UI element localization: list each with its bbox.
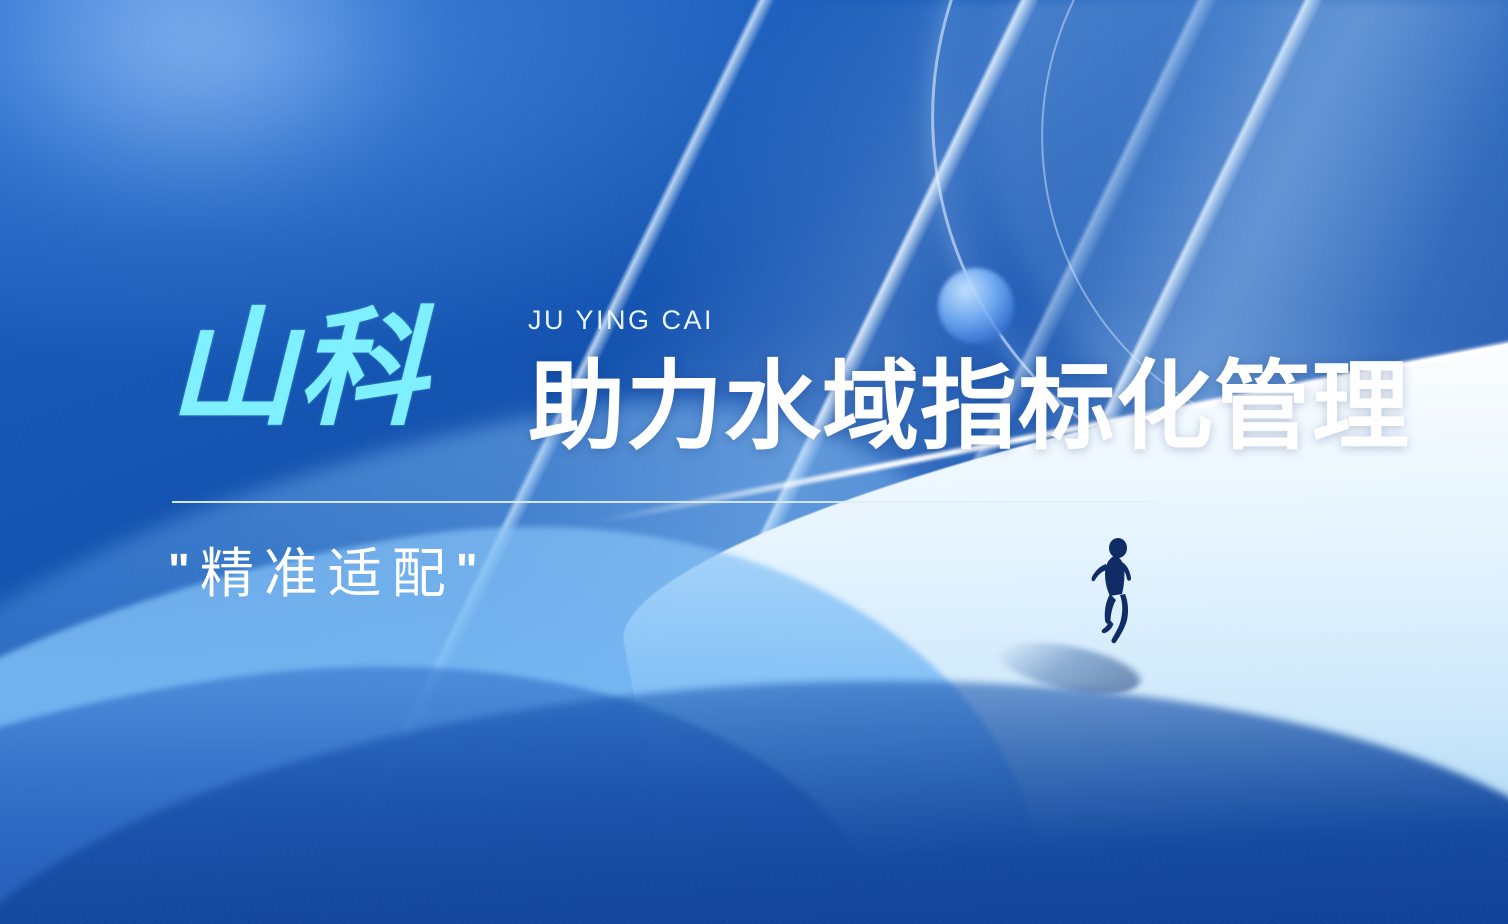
brand-pinyin: JU YING CAI — [528, 307, 714, 334]
tagline-text: 精准适配 — [200, 544, 456, 604]
logo-wordmark: 山科 — [168, 306, 428, 434]
tagline-open-quote: " — [168, 544, 200, 596]
promo-banner: 山科 JU YING CAI 助力水域指标化管理 "精准适配" — [0, 0, 1508, 924]
banner-content: 山科 JU YING CAI 助力水域指标化管理 "精准适配" — [0, 0, 1508, 924]
tagline: "精准适配" — [168, 543, 488, 607]
horizontal-divider — [172, 501, 1156, 503]
tagline-close-quote: " — [456, 544, 488, 596]
headline: 助力水域指标化管理 — [528, 358, 1410, 455]
